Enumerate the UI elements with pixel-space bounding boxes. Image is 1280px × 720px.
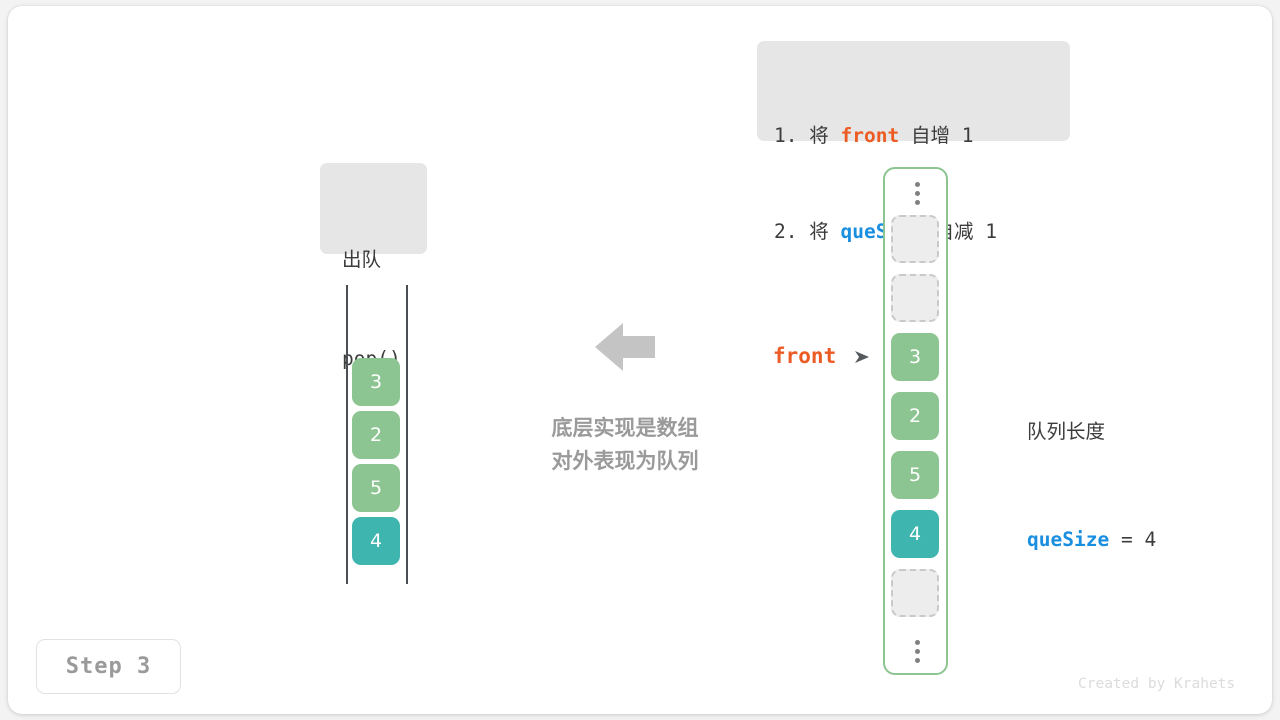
queue-cell-3: 4: [352, 517, 400, 565]
queue-size-token: queSize: [1027, 528, 1109, 551]
screenshot-canvas: 1. 将 front 自增 1 2. 将 queSize 自减 1 出队 pop…: [0, 0, 1280, 720]
array-slot-4: 5: [891, 451, 939, 499]
instruction-2-verb: 将: [809, 220, 829, 243]
instruction-2-amount: 1: [985, 220, 997, 243]
ellipsis-dot: [915, 191, 920, 196]
instruction-1-verb: 将: [809, 124, 829, 147]
array-slot-1: [891, 274, 939, 322]
queue-size-annotation: 队列长度 queSize = 4: [1027, 342, 1247, 630]
queue-rail-right: [406, 285, 408, 584]
vertical-ellipsis-icon-bottom: [885, 634, 950, 668]
instruction-1-token: front: [841, 124, 900, 147]
array-slot-6: [891, 569, 939, 617]
array-slot-5: 4: [891, 510, 939, 558]
ellipsis-dot: [915, 182, 920, 187]
array-slot-3: 2: [891, 392, 939, 440]
front-pointer-label: front: [773, 344, 836, 368]
instruction-1-amount: 1: [962, 124, 974, 147]
ellipsis-dot: [915, 649, 920, 654]
center-caption-line-2: 对外表现为队列: [500, 445, 750, 478]
queue-rail-left: [346, 285, 348, 584]
ellipsis-dot: [915, 658, 920, 663]
ellipsis-dot: [915, 200, 920, 205]
queue-size-equals: =: [1121, 528, 1133, 551]
queue-cell-2: 5: [352, 464, 400, 512]
queue-size-expression: queSize = 4: [1027, 522, 1247, 558]
center-caption-line-1: 底层实现是数组: [500, 412, 750, 445]
queue-cell-1: 2: [352, 411, 400, 459]
right-caret-icon: [855, 350, 871, 364]
instruction-line-1: 1. 将 front 自增 1: [774, 120, 1070, 152]
queue-size-title: 队列长度: [1027, 414, 1247, 450]
queue-size-value: 4: [1144, 528, 1156, 551]
queue-cell-0: 3: [352, 358, 400, 406]
instruction-2-index: 2.: [774, 220, 797, 243]
instruction-1-index: 1.: [774, 124, 797, 147]
step-badge: Step 3: [36, 639, 181, 694]
vertical-ellipsis-icon-top: [885, 176, 950, 210]
instruction-1-action: 自增: [911, 124, 950, 147]
operation-label: 出队 pop(): [320, 163, 427, 254]
array-slot-0: [891, 215, 939, 263]
credit-text: Created by Krahets: [1078, 676, 1235, 692]
center-caption: 底层实现是数组 对外表现为队列: [500, 412, 750, 478]
queue-view-column: 3 2 5 4: [346, 285, 408, 584]
ellipsis-dot: [915, 640, 920, 645]
operation-title: 出队: [342, 243, 427, 276]
left-arrow-icon: [595, 322, 655, 372]
array-view-column: 3 2 5 4: [883, 167, 948, 675]
array-slot-2: 3: [891, 333, 939, 381]
instruction-note: 1. 将 front 自增 1 2. 将 queSize 自减 1: [757, 41, 1070, 141]
